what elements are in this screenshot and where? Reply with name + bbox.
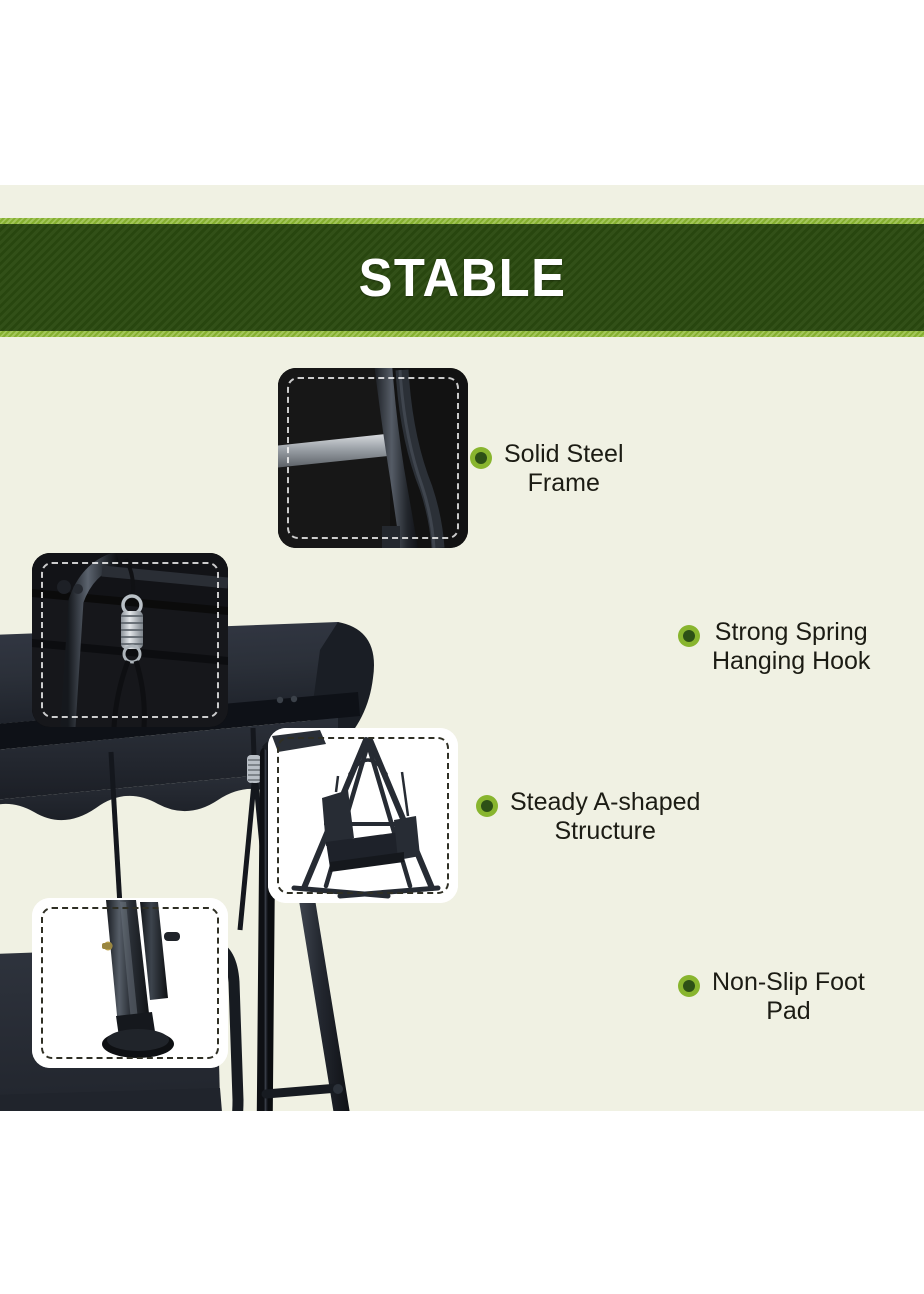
bullet-icon [470, 447, 492, 469]
feature-steady-a-shaped-structure: Steady A-shaped Structure [476, 788, 700, 847]
feature-strong-spring-hanging-hook: Strong Spring Hanging Hook [678, 618, 870, 677]
a-frame-structure-photo [268, 728, 458, 903]
foot-pad-photo [32, 898, 228, 1068]
banner-body: STABLE [0, 224, 924, 331]
feature-label-text: Solid Steel Frame [504, 440, 624, 499]
bullet-icon [678, 975, 700, 997]
steel-frame-joint-photo [278, 368, 468, 548]
bullet-icon [678, 625, 700, 647]
bullet-icon [476, 795, 498, 817]
feature-non-slip-foot-pad: Non-Slip Foot Pad [678, 968, 865, 1027]
feature-solid-steel-frame: Solid Steel Frame [470, 440, 624, 499]
banner-stripe-bottom [0, 331, 924, 337]
feature-label-text: Strong Spring Hanging Hook [712, 618, 870, 677]
spring-hanging-hook-photo [32, 553, 228, 727]
feature-label-text: Non-Slip Foot Pad [712, 968, 865, 1027]
page-title: STABLE [358, 251, 566, 305]
section-banner: STABLE [0, 218, 924, 337]
feature-label-text: Steady A-shaped Structure [510, 788, 700, 847]
